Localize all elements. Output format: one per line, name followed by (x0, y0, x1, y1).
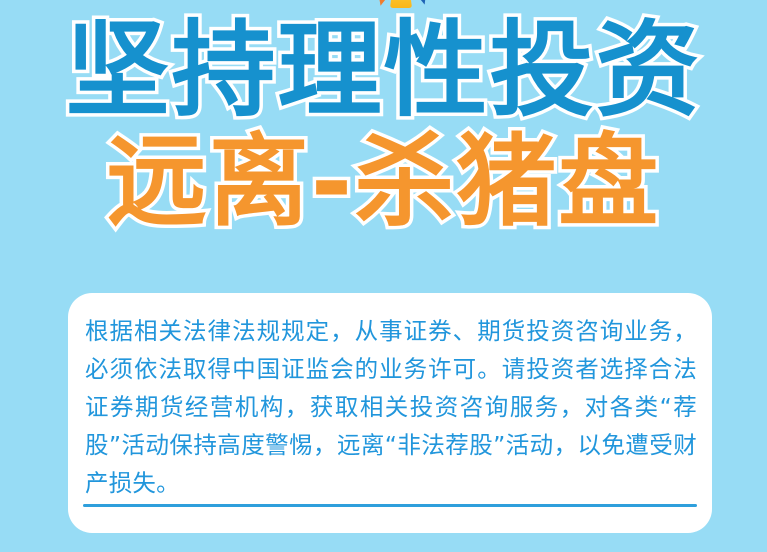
headline-line-1: 坚持理性投资 (0, 18, 767, 122)
orange-triangle-icon (372, 0, 394, 8)
headline: 坚持理性投资 远离-杀猪盘 (0, 18, 767, 232)
info-card: 根据相关法律法规规定，从事证券、期货投资咨询业务，必须依法取得中国证监会的业务许… (68, 293, 712, 533)
headline-line-2: 远离-杀猪盘 (0, 132, 767, 232)
disclaimer-text: 根据相关法律法规规定，从事证券、期货投资咨询业务，必须依法取得中国证监会的业务许… (85, 312, 697, 502)
card-body: 根据相关法律法规规定，从事证券、期货投资咨询业务，必须依法取得中国证监会的业务许… (85, 312, 697, 502)
yellow-trapezoid-icon (390, 0, 412, 8)
blue-triangle-icon (412, 0, 433, 7)
poster-canvas: 坚持理性投资 远离-杀猪盘 根据相关法律法规规定，从事证券、期货投资咨询业务，必… (0, 0, 767, 552)
card-divider (83, 504, 697, 507)
